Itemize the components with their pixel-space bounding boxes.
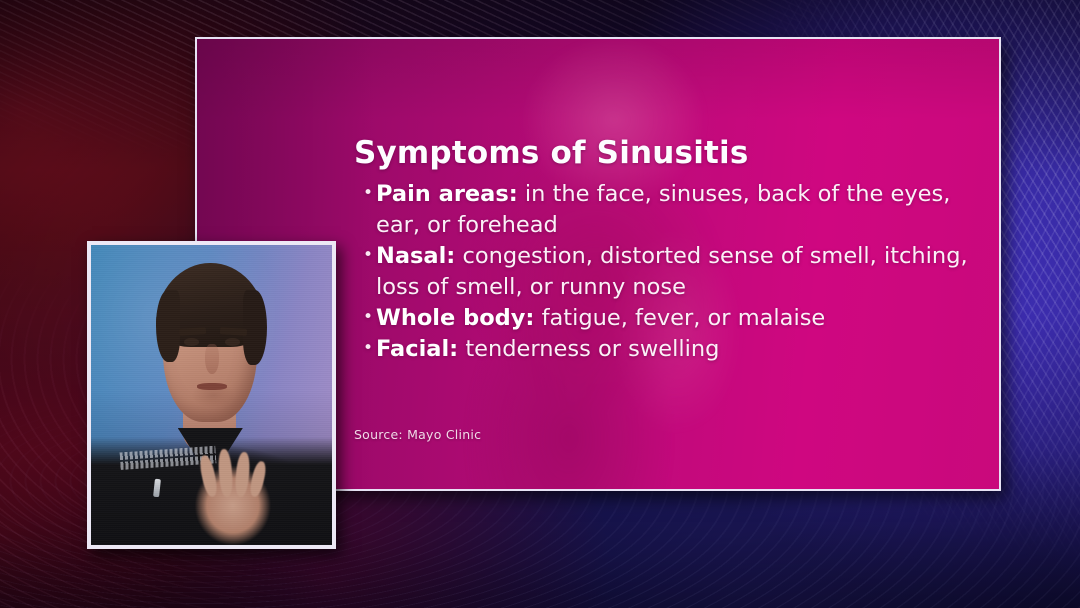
speaker-eyebrow-right (220, 327, 247, 335)
speaker-mouth (197, 383, 227, 390)
bullet-rest: fatigue, fever, or malaise (534, 305, 825, 331)
bullet-rest: tenderness or swelling (458, 336, 719, 362)
bullet-lead: Whole body: (376, 305, 534, 331)
bullet-item: Whole body: fatigue, fever, or malaise (363, 303, 983, 334)
bullet-rest: congestion, distorted sense of smell, it… (376, 243, 968, 300)
speaker-hair-right (243, 290, 267, 365)
bullet-lead: Nasal: (376, 243, 455, 269)
bullet-item: Pain areas: in the face, sinuses, back o… (363, 179, 983, 241)
slide-title: Symptoms of Sinusitis (354, 135, 749, 171)
bullet-lead: Pain areas: (376, 181, 518, 207)
symptom-bullet-list: Pain areas: in the face, sinuses, back o… (363, 179, 983, 365)
speaker-hair-left (156, 290, 180, 362)
bullet-item: Nasal: congestion, distorted sense of sm… (363, 241, 983, 303)
speaker-eye-left (184, 338, 199, 346)
bullet-lead: Facial: (376, 336, 458, 362)
speaker-nose (205, 344, 218, 374)
bullet-item: Facial: tenderness or swelling (363, 334, 983, 365)
speaker-video-inset (87, 241, 336, 549)
broadcast-screen: Symptoms of Sinusitis Pain areas: in the… (0, 0, 1080, 608)
speaker-eye-right (225, 338, 240, 346)
speaker-eyebrow-left (179, 327, 206, 335)
slide-source-attribution: Source: Mayo Clinic (354, 427, 481, 442)
